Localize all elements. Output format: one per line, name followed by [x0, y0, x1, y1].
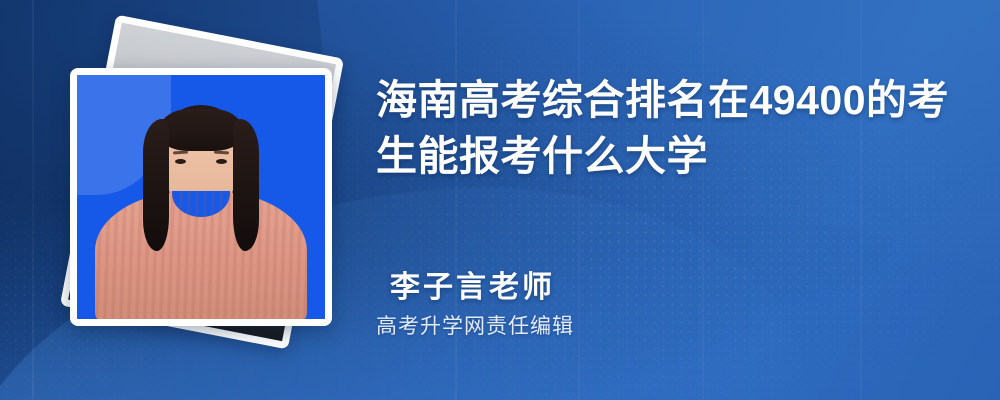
avatar: [77, 75, 325, 319]
byline: 李子言老师 高考升学网责任编辑: [390, 269, 950, 341]
photo-stack: [52, 28, 352, 348]
portrait-eye-right: [216, 159, 227, 164]
article-cover-banner: 海南高考综合排名在49400的考生能报考什么大学 李子言老师 高考升学网责任编辑: [0, 0, 1000, 400]
text-block: 海南高考综合排名在49400的考生能报考什么大学 李子言老师 高考升学网责任编辑: [376, 0, 976, 400]
photo-card-front: [70, 68, 332, 326]
author-name: 李子言老师: [390, 269, 950, 307]
portrait-hair-strand-left: [143, 119, 169, 251]
portrait-illustration: [77, 75, 325, 319]
portrait-hair-fringe: [158, 109, 244, 151]
portrait-eye-left: [175, 159, 186, 164]
author-role: 高考升学网责任编辑: [376, 313, 950, 341]
portrait-hair-strand-right: [233, 119, 259, 251]
page-title: 海南高考综合排名在49400的考生能报考什么大学: [376, 72, 952, 184]
portrait-dress-texture: [95, 191, 307, 319]
